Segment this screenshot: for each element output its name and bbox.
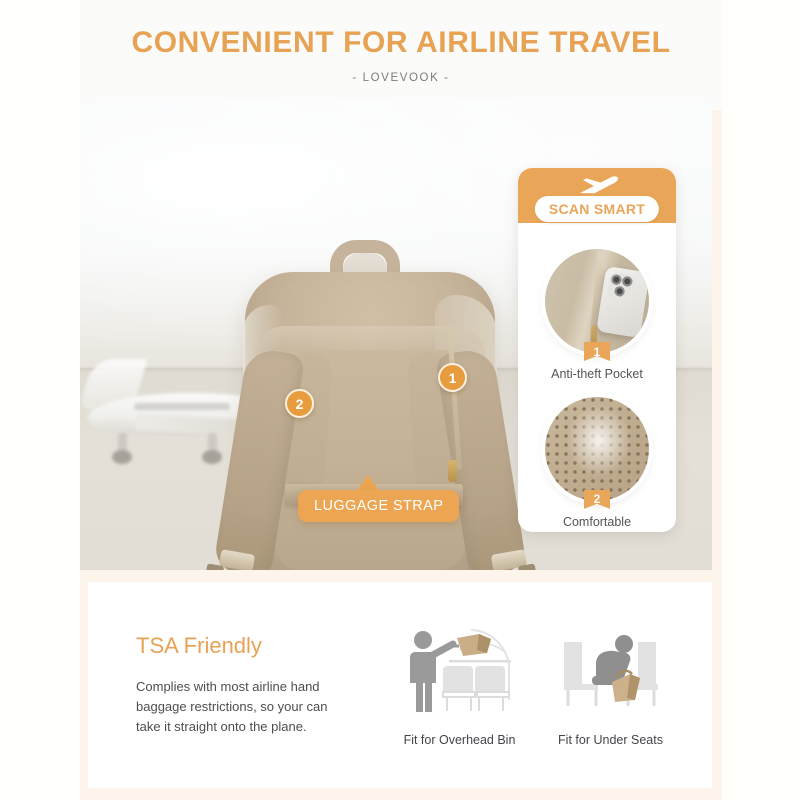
tsa-description: Complies with most airline hand baggage … (136, 677, 346, 737)
header-banner: CONVENIENT FOR AIRLINE TRAVEL - LOVEVOOK… (80, 0, 722, 110)
feature-item: 2 Comfortable & Breathable (518, 397, 676, 532)
bag-under-seat-icon (552, 624, 670, 725)
fit-label: Fit for Overhead Bin (404, 733, 516, 747)
brand-name: - LOVEVOOK - (352, 72, 449, 84)
hotspot-marker-2[interactable]: 2 (285, 389, 314, 418)
luggage-strap-pointer-icon (357, 475, 379, 491)
tsa-panel: TSA Friendly Complies with most airline … (88, 582, 712, 788)
fit-label: Fit for Under Seats (558, 733, 663, 747)
luggage-strap-badge: LUGGAGE STRAP (298, 490, 459, 522)
card-features: 1 Anti-theft Pocket 2 Comfortable & Brea… (518, 223, 676, 532)
fit-icons-group: Fit for Overhead Bin (384, 624, 686, 747)
feature-item: 1 Anti-theft Pocket (518, 249, 676, 383)
breathable-mesh-photo (545, 397, 649, 501)
feature-label-line1: Comfortable (561, 514, 633, 531)
person-lifting-bag-overhead-icon (401, 624, 519, 725)
fit-overhead-bin-item: Fit for Overhead Bin (401, 624, 519, 747)
tsa-text-block: TSA Friendly Complies with most airline … (114, 633, 384, 737)
scan-smart-label: SCAN SMART (535, 196, 659, 222)
page-title: CONVENIENT FOR AIRLINE TRAVEL (131, 26, 670, 60)
hotspot-marker-1[interactable]: 1 (438, 363, 467, 392)
feature-label: Comfortable & Breathable (561, 514, 633, 532)
feature-number-badge: 2 (584, 490, 610, 509)
feature-label-line2: & Breathable (561, 531, 633, 532)
zipper-pull-icon (448, 460, 457, 482)
scan-smart-header: SCAN SMART (518, 168, 676, 223)
anti-theft-pocket-photo (545, 249, 649, 353)
fit-under-seats-item: Fit for Under Seats (552, 624, 670, 747)
tsa-title: TSA Friendly (136, 633, 384, 659)
feature-number-badge: 1 (584, 342, 610, 361)
feature-label: Anti-theft Pocket (551, 366, 643, 383)
product-marketing-image: CONVENIENT FOR AIRLINE TRAVEL - LOVEVOOK… (0, 0, 800, 800)
scan-smart-card: SCAN SMART 1 Anti-theft Poc (518, 168, 676, 532)
